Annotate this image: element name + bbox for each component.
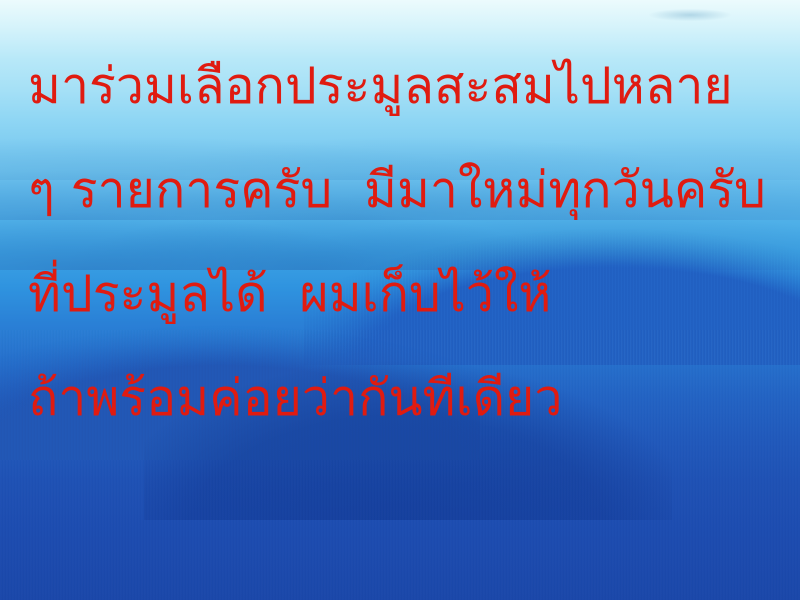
caption-overlay: มาร่วมเลือกประมูลสะสมไปหลาย ๆ รายการครับ… <box>0 0 800 600</box>
caption-line-1: มาร่วมเลือกประมูลสะสมไปหลาย <box>28 34 800 138</box>
caption-line-2: ๆ รายการครับ มีมาใหม่ทุกวันครับ <box>28 138 800 242</box>
caption-line-3: ที่ประมูลได้ ผมเก็บไว้ให้ <box>28 242 800 346</box>
image-canvas: มาร่วมเลือกประมูลสะสมไปหลาย ๆ รายการครับ… <box>0 0 800 600</box>
caption-line-4: ถ้าพร้อมค่อยว่ากันทีเดียว <box>28 346 800 450</box>
